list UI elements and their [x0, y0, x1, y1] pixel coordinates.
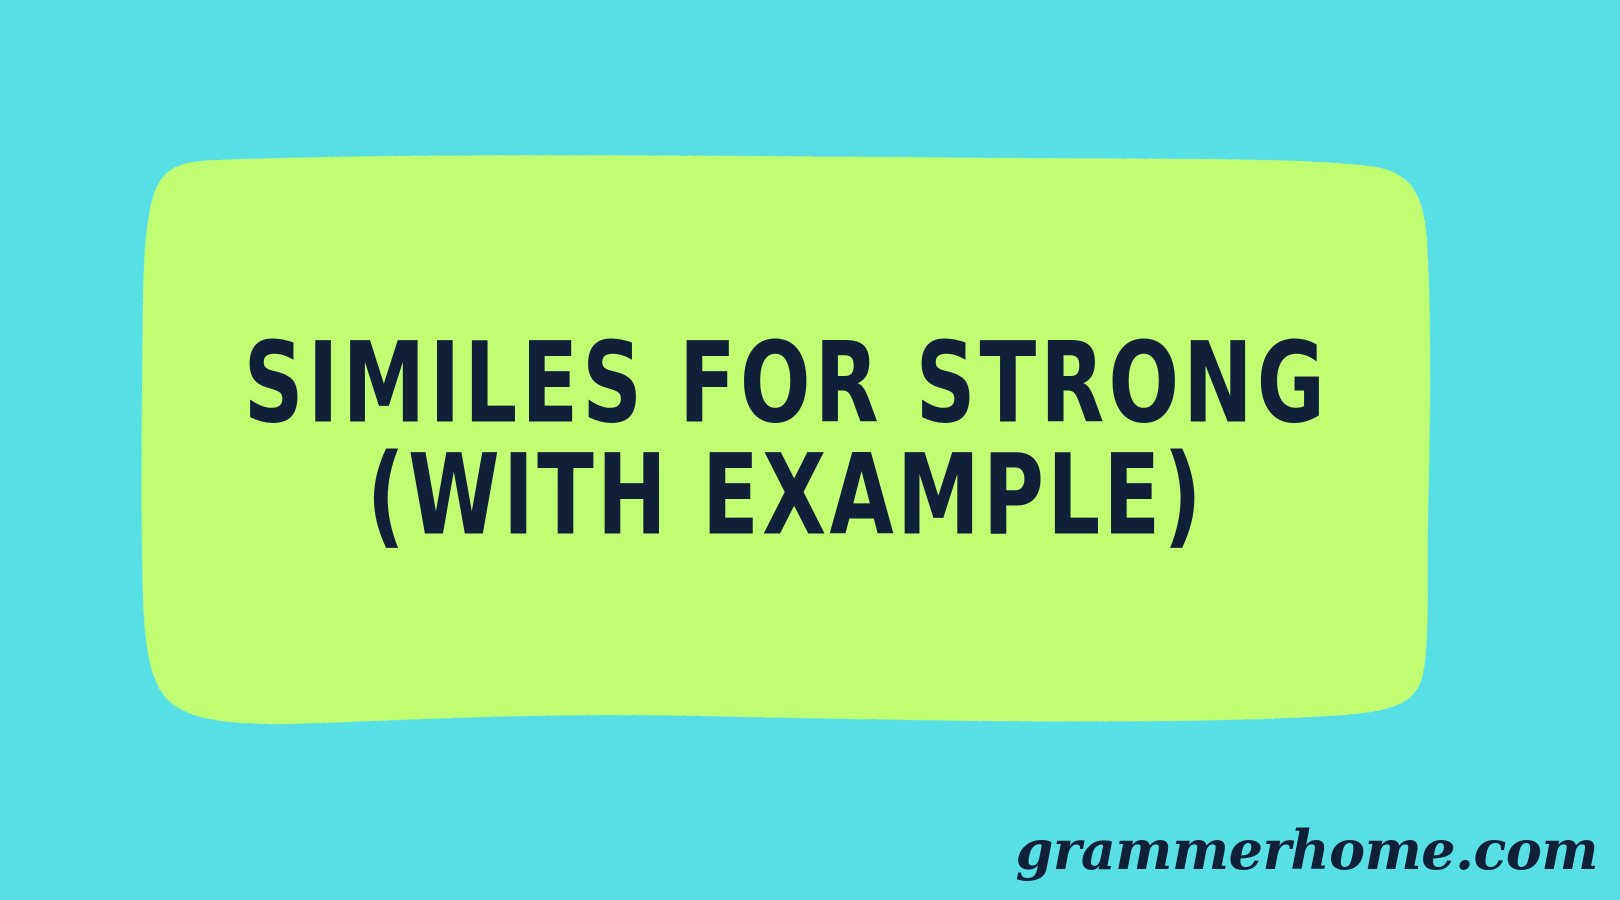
banner-title-block: Similes for Strong (With Example)	[140, 158, 1432, 722]
poster-canvas: Similes for Strong (With Example) gramme…	[0, 0, 1620, 900]
site-watermark: grammerhome.com	[1016, 818, 1598, 882]
title-line-1: Similes for Strong	[243, 330, 1328, 439]
title-line-2: (With Example)	[367, 441, 1205, 550]
